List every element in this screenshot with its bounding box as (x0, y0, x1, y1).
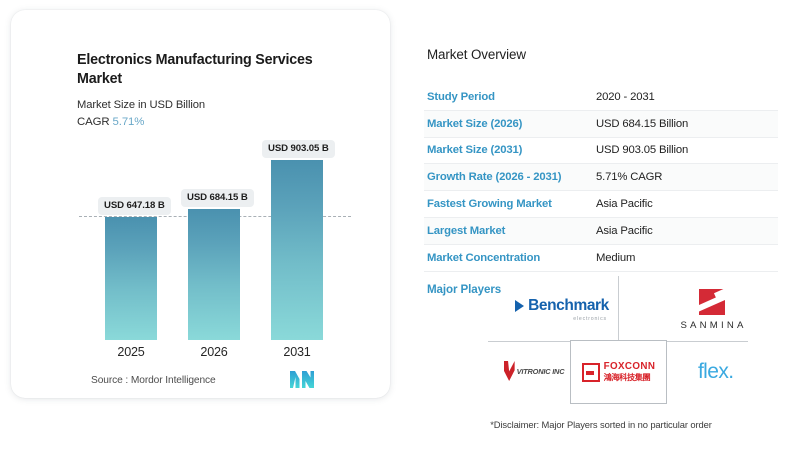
overview-value: USD 684.15 Billion (596, 118, 688, 130)
table-row: Market Size (2026) USD 684.15 Billion (424, 111, 778, 138)
table-row: Largest Market Asia Pacific (424, 218, 778, 245)
bar-2025 (105, 217, 157, 340)
vitronic-logo: VITRONIC INC (486, 354, 582, 388)
x-axis-tick-labels: 2025 2026 2031 (77, 345, 355, 363)
benchmark-logo: Benchmark electronics (508, 292, 616, 326)
bar-value-label-2031: USD 903.05 B (262, 140, 335, 158)
overview-value: Asia Pacific (596, 225, 653, 237)
x-tick-2026: 2026 (179, 345, 249, 359)
overview-label: Growth Rate (2026 - 2031) (424, 171, 596, 183)
table-row: Fastest Growing Market Asia Pacific (424, 191, 778, 218)
chart-card: Electronics Manufacturing Services Marke… (11, 10, 390, 398)
source-attribution: Source : Mordor Intelligence (91, 375, 216, 386)
mordor-intelligence-logo (290, 371, 314, 388)
overview-value: Medium (596, 252, 635, 264)
benchmark-logo-subtitle: electronics (573, 316, 607, 322)
table-row: Study Period 2020 - 2031 (424, 84, 778, 111)
table-row: Market Size (2031) USD 903.05 Billion (424, 138, 778, 165)
chart-title: Electronics Manufacturing Services Marke… (77, 51, 337, 89)
overview-value: 2020 - 2031 (596, 91, 655, 103)
market-overview-heading: Market Overview (427, 47, 526, 62)
cagr-label: CAGR (77, 116, 110, 128)
cagr-row: CAGR5.71% (77, 116, 144, 128)
market-snapshot-page: Electronics Manufacturing Services Marke… (0, 0, 800, 459)
bar-2026 (188, 209, 240, 340)
vitronic-mark-icon (504, 361, 515, 381)
bar-value-label-2025: USD 647.18 B (98, 197, 171, 215)
overview-label: Study Period (424, 91, 596, 103)
sanmina-logo-name: SANMINA (680, 320, 746, 331)
x-tick-2025: 2025 (96, 345, 166, 359)
cagr-value: 5.71% (113, 116, 145, 128)
players-disclaimer: *Disclaimer: Major Players sorted in no … (424, 419, 778, 430)
bar-2031 (271, 160, 323, 340)
flex-logo-dot: . (728, 360, 734, 384)
overview-label: Fastest Growing Market (424, 198, 596, 210)
overview-label: Largest Market (424, 225, 596, 237)
benchmark-triangle-icon (515, 300, 524, 312)
overview-value: USD 903.05 Billion (596, 144, 688, 156)
foxconn-logo-name: FOXCONN (604, 362, 656, 372)
foxconn-logo: FOXCONN 鴻海科技集團 (570, 354, 667, 390)
vitronic-logo-name: VITRONIC INC (517, 367, 565, 376)
overview-label: Market Concentration (424, 252, 596, 264)
major-players-logo-grid: Benchmark electronics SANMINA VITRONIC I… (424, 276, 778, 404)
market-overview-table: Study Period 2020 - 2031 Market Size (20… (424, 84, 778, 272)
overview-label: Market Size (2031) (424, 144, 596, 156)
overview-value: Asia Pacific (596, 198, 653, 210)
logo-grid-vertical-divider (618, 276, 619, 342)
sanmina-mark-icon (699, 289, 725, 315)
flex-logo: flex. (676, 356, 756, 388)
foxconn-mark-icon (582, 363, 600, 382)
table-row: Market Concentration Medium (424, 245, 778, 272)
benchmark-logo-name: Benchmark (528, 297, 609, 315)
bar-value-label-2026: USD 684.15 B (181, 189, 254, 207)
x-tick-2031: 2031 (262, 345, 332, 359)
sanmina-logo: SANMINA (664, 284, 760, 336)
overview-value: 5.71% CAGR (596, 171, 662, 183)
flex-logo-name: flex (698, 360, 728, 384)
chart-subtitle: Market Size in USD Billion (77, 99, 205, 111)
foxconn-logo-name-cn: 鴻海科技集團 (604, 373, 656, 383)
market-overview-panel: Market Overview Study Period 2020 - 2031… (424, 0, 800, 459)
bar-chart-plot-area: USD 647.18 B USD 684.15 B USD 903.05 B (77, 138, 355, 340)
table-row: Growth Rate (2026 - 2031) 5.71% CAGR (424, 164, 778, 191)
overview-label: Market Size (2026) (424, 118, 596, 130)
